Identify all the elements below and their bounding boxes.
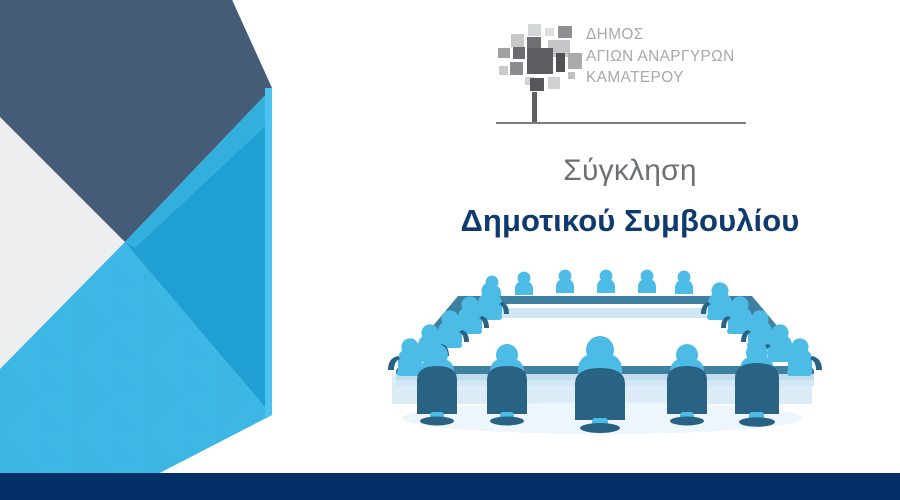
tree-square-15 bbox=[530, 78, 544, 91]
slide-canvas: ΔΗΜΟΣ ΑΓΙΩΝ ΑΝΑΡΓΥΡΩΝ ΚΑΜΑΤΕΡΟΥ Σύγκληση… bbox=[0, 0, 900, 500]
page-title: Δημοτικού Συμβουλίου bbox=[400, 203, 860, 239]
geometric-octagon-graphic bbox=[0, 0, 300, 500]
tree-square-0 bbox=[528, 24, 541, 36]
kicker-text: Σύγκληση bbox=[400, 154, 860, 188]
tree-square-3 bbox=[511, 34, 524, 47]
tree-square-9 bbox=[556, 53, 565, 72]
logo-line-1: ΔΗΜΟΣ bbox=[586, 24, 758, 46]
logo-line-2: ΑΓΙΩΝ ΑΝΑΡΓΥΡΩΝ bbox=[586, 46, 758, 68]
tree-square-12 bbox=[499, 66, 508, 75]
tree-square-1 bbox=[545, 28, 554, 36]
logo-divider-rule bbox=[496, 122, 746, 124]
council-meeting-illustration bbox=[372, 258, 832, 450]
tree-square-16 bbox=[548, 77, 560, 89]
bottom-accent-bar bbox=[0, 473, 900, 500]
tree-square-8 bbox=[527, 48, 553, 74]
tree-square-6 bbox=[498, 48, 510, 58]
tree-trunk-icon bbox=[532, 92, 537, 123]
tree-square-11 bbox=[510, 62, 523, 75]
logo-line-3: ΚΑΜΑΤΕΡΟΥ bbox=[586, 67, 758, 89]
tree-square-7 bbox=[513, 47, 525, 59]
logo-wordmark: ΔΗΜΟΣ ΑΓΙΩΝ ΑΝΑΡΓΥΡΩΝ ΚΑΜΑΤΕΡΟΥ bbox=[586, 24, 758, 89]
municipality-logo: ΔΗΜΟΣ ΑΓΙΩΝ ΑΝΑΡΓΥΡΩΝ ΚΑΜΑΤΕΡΟΥ bbox=[494, 22, 754, 126]
back-row-people bbox=[483, 270, 693, 299]
tree-square-2 bbox=[558, 26, 572, 38]
municipality-tree-logo-icon bbox=[494, 22, 586, 100]
tree-square-14 bbox=[568, 72, 575, 79]
tree-square-10 bbox=[568, 53, 582, 69]
